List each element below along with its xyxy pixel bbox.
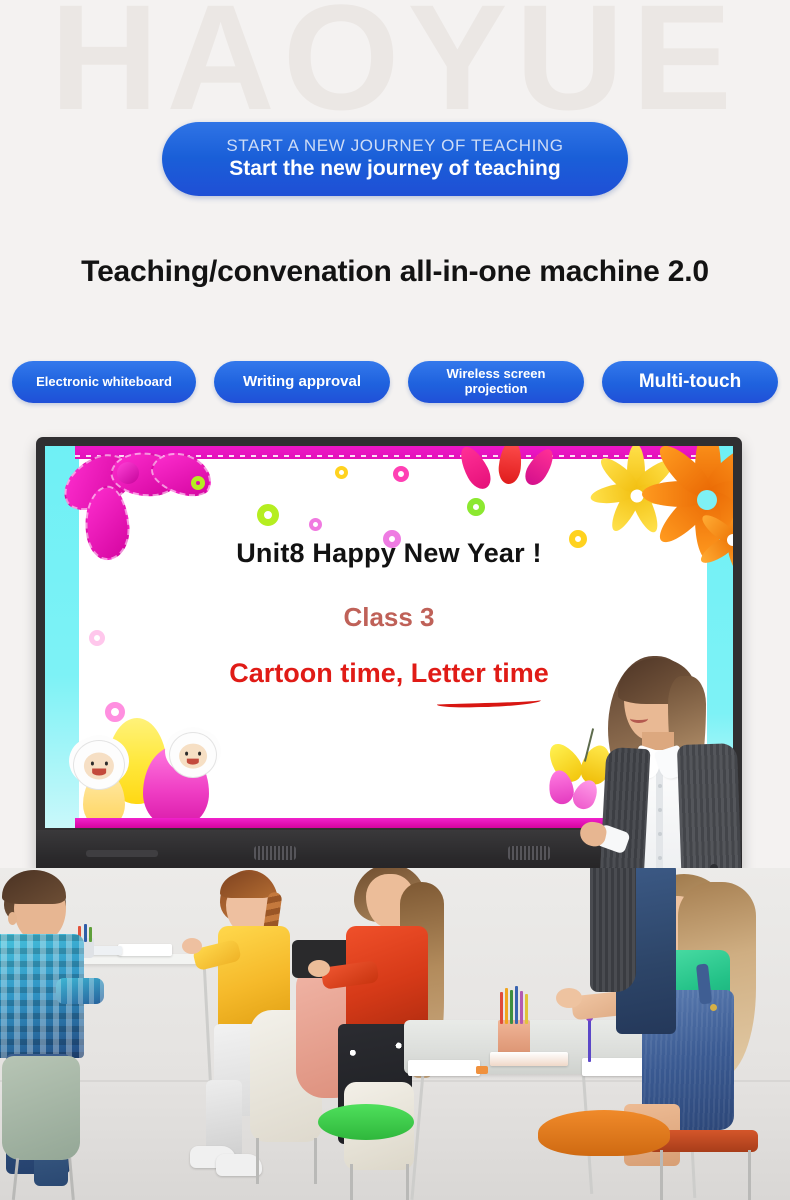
chair-leg: [748, 1150, 751, 1200]
pencil-icon: [500, 992, 503, 1024]
ring-icon: [191, 476, 205, 490]
classroom-scene: [0, 868, 790, 1200]
slide-underline-annotation: [437, 697, 541, 709]
chair-leg: [350, 1164, 353, 1200]
flower-icon: [497, 446, 523, 485]
flower-icon: [534, 734, 614, 814]
teacher-shirt-button: [658, 856, 662, 860]
notebook: [408, 1060, 480, 1076]
teacher-smile: [630, 714, 648, 723]
speaker-grille-icon: [508, 846, 550, 860]
feature-pill-electronic-whiteboard[interactable]: Electronic whiteboard: [12, 361, 196, 403]
feature-pill-multi-touch[interactable]: Multi-touch: [602, 361, 778, 403]
slide-title: Unit8 Happy New Year !: [45, 538, 733, 569]
brand-watermark: HAOYUE: [0, 0, 790, 132]
textbook: [490, 1052, 568, 1066]
sheep-icon: [73, 740, 125, 790]
feature-pill-wireless-screen-projection[interactable]: Wireless screen projection: [408, 361, 584, 403]
teacher-shirt-button: [658, 808, 662, 812]
page-title: Teaching/convenation all-in-one machine …: [50, 253, 740, 291]
chair-leg: [660, 1150, 663, 1200]
brand-logo: [86, 850, 158, 857]
hero-button-title: Start the new journey of teaching: [229, 157, 560, 181]
slide-class-line: Class 3: [45, 602, 733, 633]
feature-pill-list: Electronic whiteboard Writing approval W…: [12, 361, 778, 403]
chair: [2, 1056, 80, 1160]
chair-leg: [406, 1164, 409, 1200]
hero-button-subtitle: START A NEW JOURNEY OF TEACHING: [226, 137, 563, 156]
ring-icon: [105, 702, 125, 722]
chair-green: [318, 1104, 414, 1140]
pencil-icon: [525, 994, 528, 1024]
teacher-shirt-button: [658, 784, 662, 788]
ring-icon: [257, 504, 279, 526]
pencil-icon: [515, 986, 518, 1024]
ring-icon: [393, 466, 409, 482]
pencil-icon: [520, 991, 523, 1024]
ring-icon: [309, 518, 322, 531]
promo-page: HAOYUE START A NEW JOURNEY OF TEACHING S…: [0, 0, 790, 1200]
speaker-grille-icon: [254, 846, 296, 860]
start-journey-button[interactable]: START A NEW JOURNEY OF TEACHING Start th…: [162, 122, 628, 196]
chair-orange: [538, 1110, 670, 1156]
overall-button: [710, 1004, 717, 1011]
desk-leg: [203, 964, 213, 1090]
pencil-icon: [510, 990, 513, 1024]
ring-icon: [467, 498, 485, 516]
teacher-cardigan-hem: [590, 868, 636, 992]
chair-leg: [256, 1138, 259, 1184]
ring-icon: [335, 466, 348, 479]
sheep-icon: [169, 732, 217, 778]
chair-leg: [314, 1138, 317, 1184]
pen-icon: [588, 1016, 591, 1062]
feature-pill-writing-approval[interactable]: Writing approval: [214, 361, 390, 403]
eraser: [476, 1066, 488, 1074]
pencil-icon: [505, 988, 508, 1024]
notebook: [118, 944, 172, 956]
teacher-shirt-button: [658, 832, 662, 836]
